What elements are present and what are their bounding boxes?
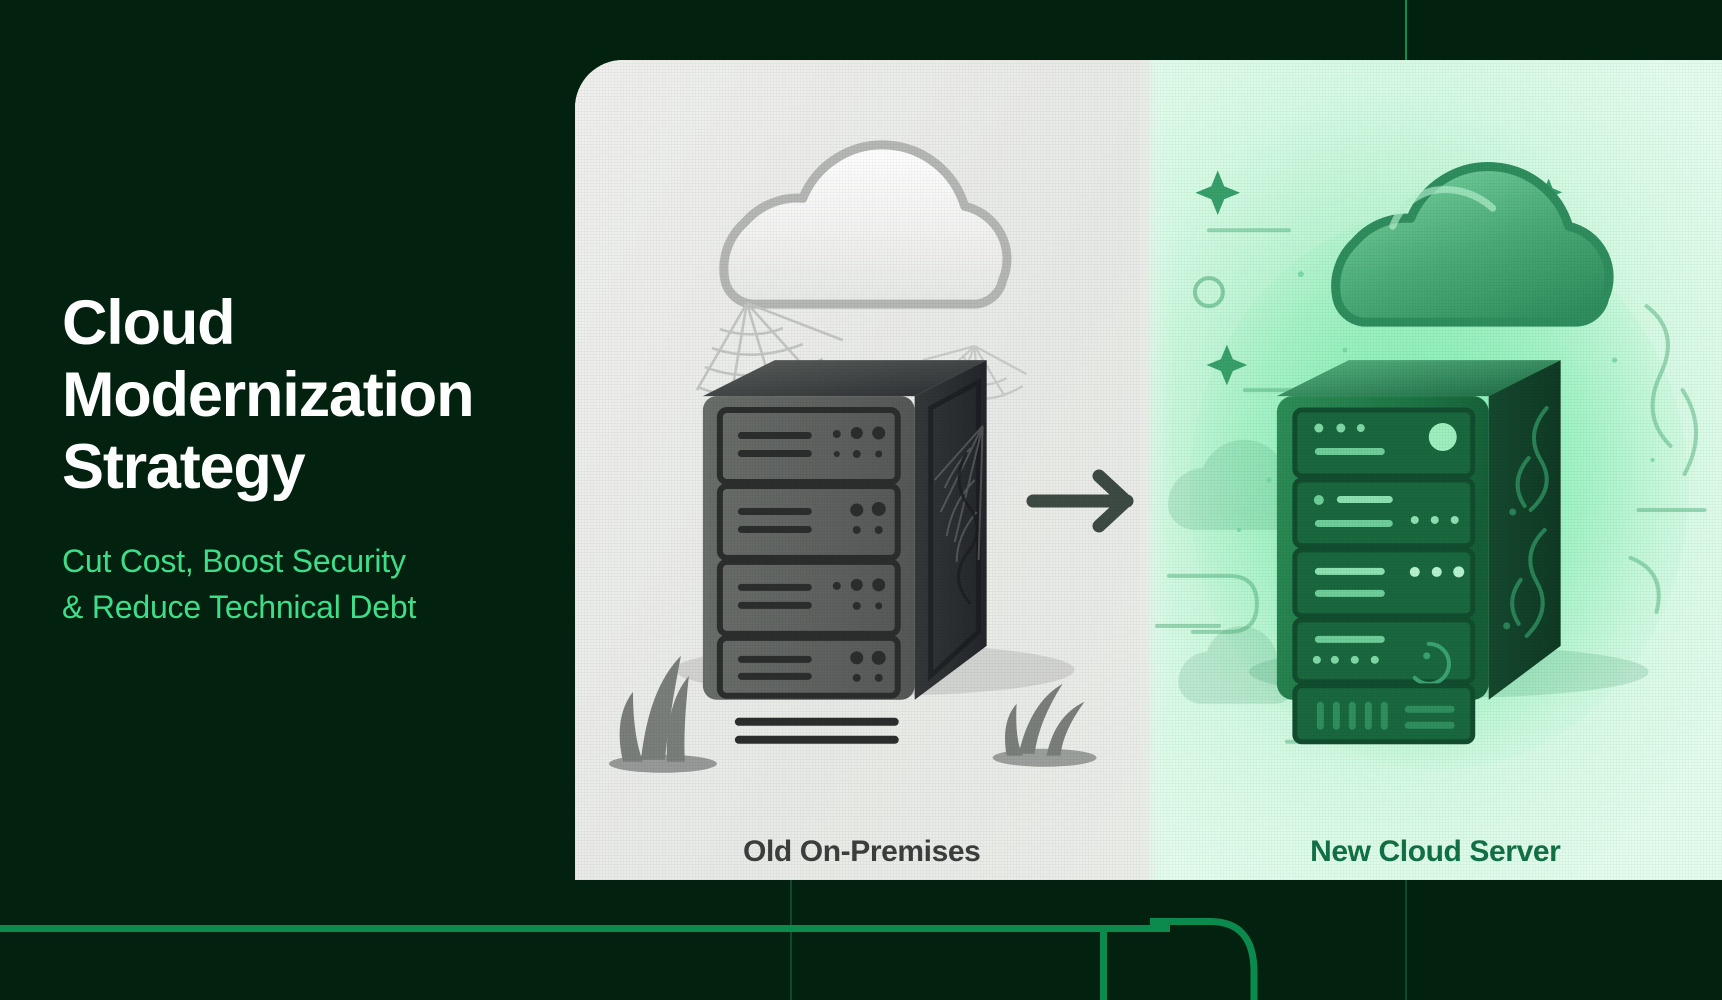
rack-unit (1294, 480, 1472, 546)
background-vertical-line-3 (1405, 880, 1407, 1000)
rack-unit (1294, 620, 1472, 684)
green-cloud-icon (1335, 166, 1609, 322)
rack-unit-vents (1294, 686, 1472, 742)
new-cloud-server-panel: New Cloud Server (1149, 60, 1722, 880)
poster-canvas: Cloud Modernization Strategy Cut Cost, B… (0, 0, 1722, 1000)
rack-unit (1294, 410, 1472, 476)
hero-copy: Cloud Modernization Strategy Cut Cost, B… (62, 288, 582, 630)
subtitle-line-1: Cut Cost, Boost Security (62, 539, 582, 584)
background-curve-icon (1150, 918, 1280, 1000)
old-server-label: Old On-Premises (575, 835, 1149, 869)
subtitle-line-2: & Reduce Technical Debt (62, 585, 582, 630)
rack-unit (1294, 550, 1472, 616)
server-side-face (1488, 360, 1560, 700)
background-vertical-line-2 (790, 880, 792, 1000)
gray-cloud-icon (724, 145, 1007, 304)
circle-outline-icon (1194, 278, 1222, 306)
headline-line-2: Modernization (62, 360, 582, 432)
arrow-right-icon (1023, 468, 1143, 534)
server-rack-units (1294, 410, 1472, 742)
illustration-card: Old On-Premises (575, 60, 1722, 880)
weeds-icon-right (993, 684, 1097, 767)
new-server-label: New Cloud Server (1149, 835, 1722, 869)
headline-line-1: Cloud (62, 288, 582, 360)
background-horizontal-line (0, 925, 1170, 932)
new-server-illustration (1149, 60, 1722, 880)
headline-line-3: Strategy (62, 432, 582, 504)
page-subtitle: Cut Cost, Boost Security & Reduce Techni… (62, 539, 582, 630)
page-title: Cloud Modernization Strategy (62, 288, 582, 503)
